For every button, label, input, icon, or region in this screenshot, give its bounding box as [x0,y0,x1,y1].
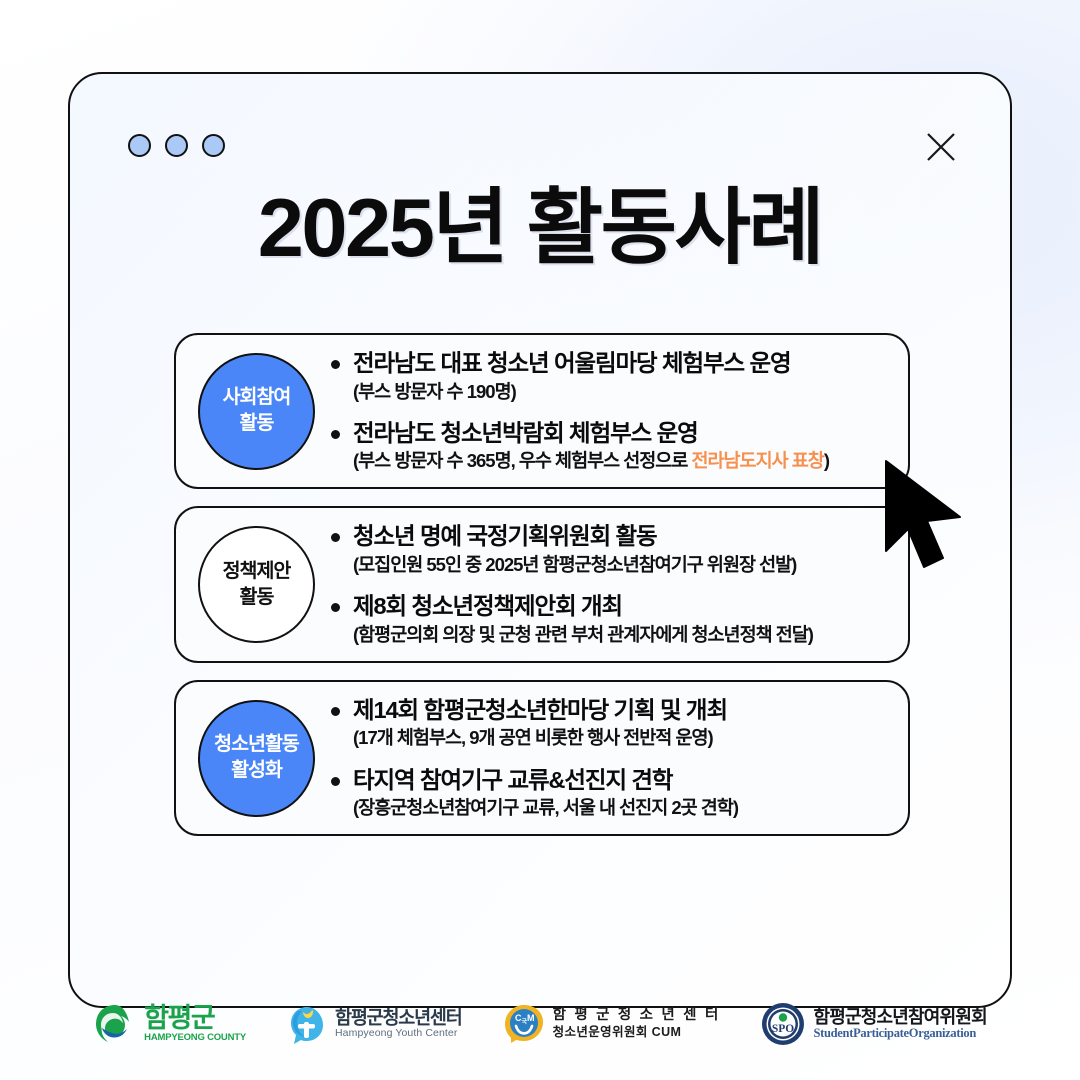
bullet-dot-icon [331,533,340,542]
bullet-headline: 청소년 명예 국정기획위원회 활동 [353,522,886,551]
window-dots-group [128,134,225,157]
bullet-subline: (부스 방문자 수 365명, 우수 체험부스 선정으로 전라남도지사 표창) [353,449,886,473]
footer-logo-strip: 함평군 HAMPYEONG COUNTY 함평군청소년센터 Hampyeong … [70,979,1010,1069]
badge-label-line2: 활동 [240,585,274,611]
list-item: 전라남도 청소년박람회 체험부스 운영 (부스 방문자 수 365명, 우수 체… [331,419,886,474]
badge-label-line2: 활동 [240,411,274,437]
bullet-dot-icon [331,360,340,369]
bullet-subline: (모집인원 55인 중 2025년 함평군청소년참여기구 위원장 선발) [353,553,886,577]
bullet-sub-prefix: (17개 체험부스, 9개 공연 비롯한 행사 전반적 운영) [353,727,713,748]
bullet-headline: 제14회 함평군청소년한마당 기획 및 개최 [353,696,886,725]
list-item: 타지역 참여기구 교류&선진지 견학 (장흥군청소년참여기구 교류, 서울 내 … [331,766,886,821]
window-titlebar [70,126,1010,172]
logo-cum-youth-operating-committee: C 국 M 함 평 군 청 소 년 센 터 청소년운영위원회 CUM [502,1002,721,1046]
bullet-sub-prefix: (부스 방문자 수 190명) [353,381,516,402]
bullet-sub-prefix: (함평군의회 의장 및 군청 관련 부처 관계자에게 청소년정책 전달) [353,624,813,645]
close-button[interactable] [924,130,958,164]
svg-text:SPO: SPO [772,1023,794,1035]
card-bullet-list: 제14회 함평군청소년한마당 기획 및 개최 (17개 체험부스, 9개 공연 … [331,696,890,820]
logo-text-block: 함평군청소년센터 Hampyeong Youth Center [335,1008,462,1039]
bullet-dot-icon [331,430,340,439]
hampyeong-county-logo-icon [93,1002,137,1046]
logo-label-en: 청소년운영위원회 CUM [553,1026,721,1040]
bullet-headline: 전라남도 청소년박람회 체험부스 운영 [353,419,886,448]
activity-card-youth-activation[interactable]: 청소년활동 활성화 제14회 함평군청소년한마당 기획 및 개최 (17개 체험… [174,680,910,836]
page-background: 2025년 활동사례 사회참여 활동 전라남도 대표 청소년 어울림마당 체험부… [0,0,1080,1080]
bullet-subline: (17개 체험부스, 9개 공연 비롯한 행사 전반적 운영) [353,726,886,750]
card-badge-policy-proposal: 정책제안 활동 [198,526,315,643]
bullet-sub-suffix: ) [824,450,829,471]
logo-text-block: 함평군청소년참여위원회 StudentParticipateOrganizati… [813,1008,986,1041]
list-item: 제8회 청소년정책제안회 개최 (함평군의회 의장 및 군청 관련 부처 관계자… [331,592,886,647]
card-bullet-list: 전라남도 대표 청소년 어울림마당 체험부스 운영 (부스 방문자 수 190명… [331,349,890,473]
bullet-headline: 전라남도 대표 청소년 어울림마당 체험부스 운영 [353,349,886,378]
bullet-text-block: 제8회 청소년정책제안회 개최 (함평군의회 의장 및 군청 관련 부처 관계자… [353,592,886,647]
logo-label-ko: 함평군청소년참여위원회 [813,1008,986,1027]
logo-text-block: 함 평 군 청 소 년 센 터 청소년운영위원회 CUM [553,1008,721,1039]
window-frame: 2025년 활동사례 사회참여 활동 전라남도 대표 청소년 어울림마당 체험부… [68,72,1012,1008]
bullet-text-block: 전라남도 대표 청소년 어울림마당 체험부스 운영 (부스 방문자 수 190명… [353,349,886,404]
window-dot-2[interactable] [165,134,188,157]
logo-spo-youth-participation-committee: SPO 함평군청소년참여위원회 StudentParticipateOrgani… [760,1001,986,1047]
bullet-headline: 타지역 참여기구 교류&선진지 견학 [353,766,886,795]
bullet-sub-prefix: (장흥군청소년참여기구 교류, 서울 내 선진지 2곳 견학) [353,797,738,818]
bullet-text-block: 타지역 참여기구 교류&선진지 견학 (장흥군청소년참여기구 교류, 서울 내 … [353,766,886,821]
logo-hampyeong-county: 함평군 HAMPYEONG COUNTY [93,1002,246,1046]
bullet-dot-icon [331,777,340,786]
bullet-subline: (함평군의회 의장 및 군청 관련 부처 관계자에게 청소년정책 전달) [353,623,886,647]
badge-label-line2: 활성화 [231,758,282,784]
cum-smiley-logo-icon: C 국 M [502,1002,546,1046]
spo-seal-logo-icon: SPO [760,1001,806,1047]
list-item: 전라남도 대표 청소년 어울림마당 체험부스 운영 (부스 방문자 수 190명… [331,349,886,404]
activity-card-social-participation[interactable]: 사회참여 활동 전라남도 대표 청소년 어울림마당 체험부스 운영 (부스 방문… [174,333,910,489]
bullet-text-block: 청소년 명예 국정기획위원회 활동 (모집인원 55인 중 2025년 함평군청… [353,522,886,577]
badge-label-line1: 사회참여 [223,385,291,411]
logo-label-en: Hampyeong Youth Center [335,1028,462,1039]
bullet-headline: 제8회 청소년정책제안회 개최 [353,592,886,621]
card-bullet-list: 청소년 명예 국정기획위원회 활동 (모집인원 55인 중 2025년 함평군청… [331,522,890,646]
activity-cards-list: 사회참여 활동 전라남도 대표 청소년 어울림마당 체험부스 운영 (부스 방문… [174,333,910,836]
badge-label-line1: 정책제안 [223,559,291,585]
logo-label-ko: 함평군청소년센터 [335,1008,462,1028]
bullet-dot-icon [331,707,340,716]
logo-label-ko: 함평군 [144,1004,246,1033]
logo-label-ko: 함 평 군 청 소 년 센 터 [553,1008,721,1024]
logo-label-en: StudentParticipateOrganization [813,1027,986,1041]
page-title: 2025년 활동사례 [70,186,1010,269]
svg-text:M: M [527,1013,535,1023]
window-dot-3[interactable] [202,134,225,157]
list-item: 청소년 명예 국정기획위원회 활동 (모집인원 55인 중 2025년 함평군청… [331,522,886,577]
close-icon [924,130,958,164]
bullet-text-block: 전라남도 청소년박람회 체험부스 운영 (부스 방문자 수 365명, 우수 체… [353,419,886,474]
badge-label-line1: 청소년활동 [214,732,299,758]
bullet-sub-prefix: (부스 방문자 수 365명, 우수 체험부스 선정으로 [353,450,692,471]
window-dot-1[interactable] [128,134,151,157]
bullet-subline: (부스 방문자 수 190명) [353,380,886,404]
activity-card-policy-proposal[interactable]: 정책제안 활동 청소년 명예 국정기획위원회 활동 (모집인원 55인 중 20… [174,506,910,662]
bullet-dot-icon [331,603,340,612]
logo-hampyeong-youth-center: 함평군청소년센터 Hampyeong Youth Center [286,1002,462,1046]
bullet-sub-prefix: (모집인원 55인 중 2025년 함평군청소년참여기구 위원장 선발) [353,554,796,575]
list-item: 제14회 함평군청소년한마당 기획 및 개최 (17개 체험부스, 9개 공연 … [331,696,886,751]
bullet-subline: (장흥군청소년참여기구 교류, 서울 내 선진지 2곳 견학) [353,796,886,820]
card-badge-youth-activation: 청소년활동 활성화 [198,700,315,817]
card-badge-social-participation: 사회참여 활동 [198,353,315,470]
bullet-text-block: 제14회 함평군청소년한마당 기획 및 개최 (17개 체험부스, 9개 공연 … [353,696,886,751]
logo-label-en: HAMPYEONG COUNTY [144,1033,246,1043]
hampyeong-youth-center-logo-icon [286,1002,328,1046]
logo-text-block: 함평군 HAMPYEONG COUNTY [144,1004,246,1043]
bullet-sub-highlight: 전라남도지사 표창 [692,450,824,471]
